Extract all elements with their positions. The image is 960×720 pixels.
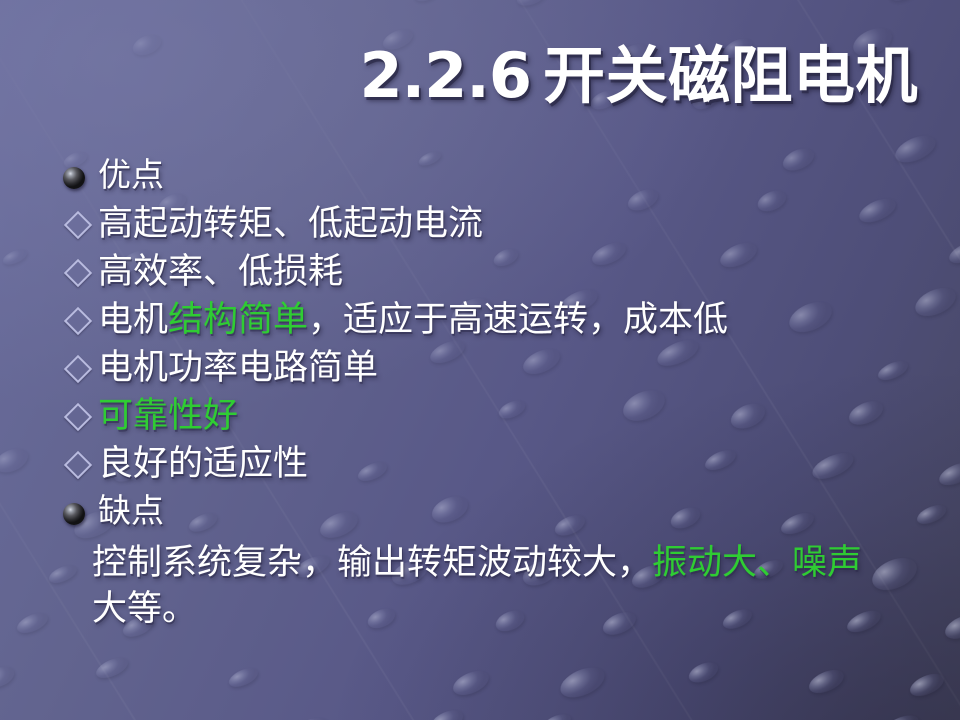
advantages-label: 优点 bbox=[98, 154, 164, 198]
bead-icon bbox=[907, 669, 947, 700]
diamond-bullet-icon bbox=[64, 451, 92, 479]
diamond-bullet-icon bbox=[64, 403, 92, 431]
list-item-text: 高起动转矩、低起动电流 bbox=[98, 202, 483, 246]
list-item-disadvantages-heading: 缺点 bbox=[54, 490, 936, 538]
list-item-high-starting-torque: 高起动转矩、低起动电流 bbox=[54, 202, 936, 250]
bead-icon bbox=[686, 659, 721, 687]
paragraph-run-plain: 控制系统复杂，输出转矩波动较大， bbox=[92, 543, 652, 582]
list-item-text: 电机功率电路简单 bbox=[98, 346, 378, 390]
bead-icon bbox=[226, 664, 261, 691]
list-item-text: 良好的适应性 bbox=[98, 442, 308, 486]
list-item-advantages-heading: 优点 bbox=[54, 154, 936, 202]
bead-icon bbox=[0, 246, 28, 267]
bead-icon bbox=[285, 712, 334, 720]
list-item-simple-structure: 电机结构简单，适应于高速运转，成本低 bbox=[54, 298, 936, 346]
bead-icon bbox=[93, 654, 130, 682]
diamond-bullet-icon bbox=[64, 211, 92, 239]
bead-icon bbox=[806, 665, 848, 698]
diamond-bullet-icon bbox=[64, 307, 92, 335]
bead-icon bbox=[942, 611, 960, 644]
bead-icon bbox=[514, 0, 550, 10]
slide-title-heading: 开关磁阻电机 bbox=[543, 39, 918, 112]
bead-icon bbox=[936, 458, 960, 489]
disadvantages-paragraph: 控制系统复杂，输出转矩波动较大，振动大、噪声大等。 bbox=[92, 540, 892, 632]
bead-icon bbox=[428, 706, 467, 720]
list-item-high-efficiency: 高效率、低损耗 bbox=[54, 250, 936, 298]
bead-icon bbox=[556, 662, 609, 704]
run-plain: 电机 bbox=[98, 300, 168, 339]
sphere-bullet-icon bbox=[63, 503, 85, 525]
sphere-bullet-icon bbox=[63, 167, 85, 189]
disadvantages-label: 缺点 bbox=[98, 490, 164, 534]
bead-icon bbox=[450, 666, 493, 700]
bead-icon bbox=[879, 710, 922, 720]
list-item-good-adaptability: 良好的适应性 bbox=[54, 442, 936, 490]
diamond-bullet-icon bbox=[64, 259, 92, 287]
paragraph-run-plain: 大等。 bbox=[92, 589, 197, 628]
slide-title-number: 2.2.6 bbox=[359, 39, 531, 112]
slide-title: 2.2.6开关磁阻电机 bbox=[0, 44, 918, 108]
list-item-text: 电机结构简单，适应于高速运转，成本低 bbox=[98, 298, 728, 342]
bead-icon bbox=[0, 444, 32, 477]
bead-icon bbox=[15, 609, 52, 637]
run-plain: ，适应于高速运转，成本低 bbox=[308, 300, 728, 339]
bead-icon bbox=[947, 238, 960, 268]
bead-icon bbox=[539, 711, 574, 720]
list-item-text: 可靠性好 bbox=[98, 394, 238, 438]
list-item-simple-power-circuit: 电机功率电路简单 bbox=[54, 346, 936, 394]
run-highlight: 结构简单 bbox=[168, 300, 308, 339]
slide-body: 优点 高起动转矩、低起动电流 高效率、低损耗 电机结构简单，适应于高速运转，成本… bbox=[54, 154, 936, 632]
paragraph-run-highlight: 振动大、噪声 bbox=[652, 543, 862, 582]
list-item-good-reliability: 可靠性好 bbox=[54, 394, 936, 442]
diamond-bullet-icon bbox=[64, 355, 92, 383]
bead-icon bbox=[885, 0, 924, 6]
bead-icon bbox=[0, 662, 17, 690]
slide-canvas: 2.2.6开关磁阻电机 优点 高起动转矩、低起动电流 高效率、低损耗 电机结构简… bbox=[0, 0, 960, 720]
bead-icon bbox=[411, 0, 443, 5]
list-item-text: 高效率、低损耗 bbox=[98, 250, 343, 294]
